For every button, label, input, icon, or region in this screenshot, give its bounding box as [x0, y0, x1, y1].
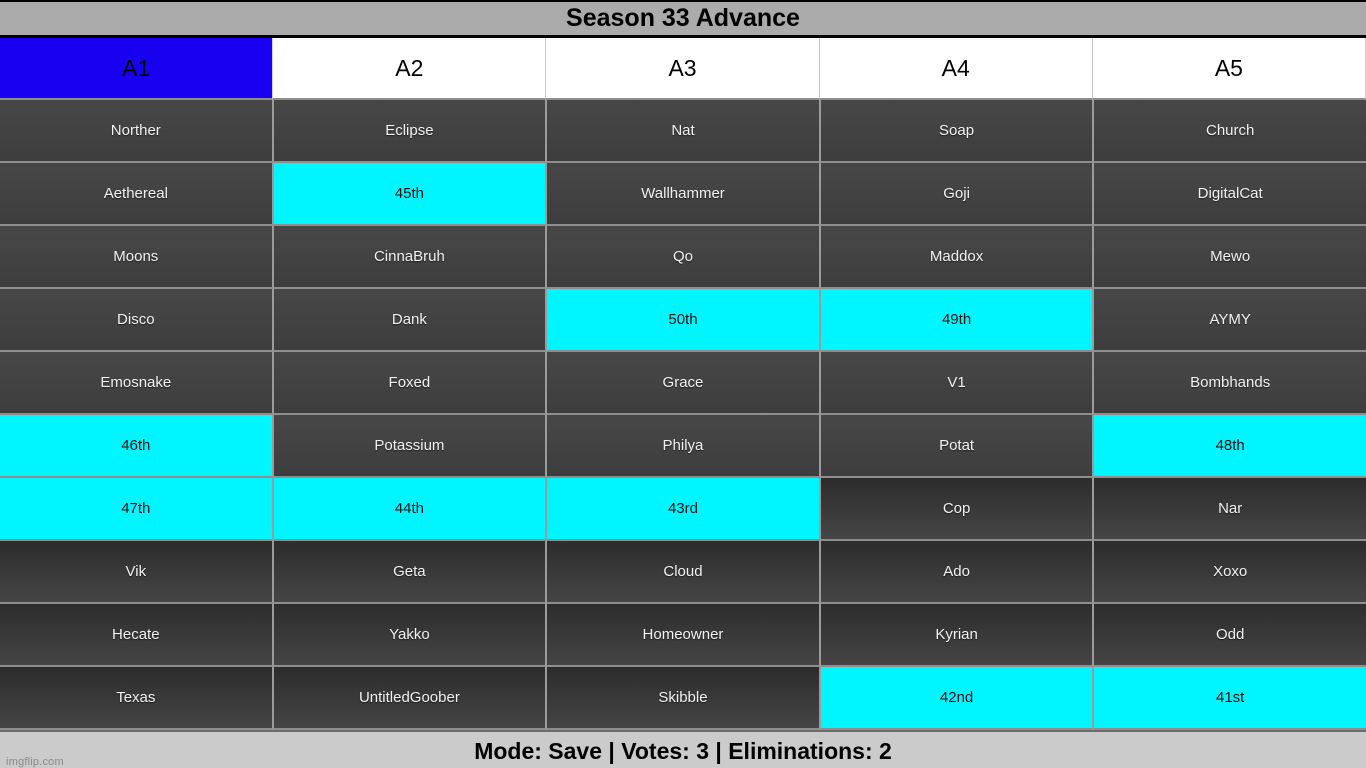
rank-cell[interactable]: 45th	[274, 163, 548, 226]
contestant-cell[interactable]: Norther	[0, 100, 274, 163]
contestant-cell[interactable]: Qo	[547, 226, 821, 289]
contestant-cell[interactable]: Cloud	[547, 541, 821, 604]
page-title: Season 33 Advance	[0, 0, 1366, 38]
column-header-a1[interactable]: A1	[0, 38, 273, 100]
contestant-cell[interactable]: Vik	[0, 541, 274, 604]
column-header-a2[interactable]: A2	[273, 38, 546, 100]
contestant-cell[interactable]: Ado	[821, 541, 1095, 604]
contestant-cell[interactable]: Soap	[821, 100, 1095, 163]
rank-cell[interactable]: 50th	[547, 289, 821, 352]
table-row: DiscoDank50th49thAYMY	[0, 289, 1366, 352]
rank-cell[interactable]: 48th	[1094, 415, 1366, 478]
contestant-cell[interactable]: Hecate	[0, 604, 274, 667]
contestant-cell[interactable]: UntitledGoober	[274, 667, 548, 730]
column-header-a4[interactable]: A4	[820, 38, 1093, 100]
contestant-cell[interactable]: V1	[821, 352, 1095, 415]
contestant-cell[interactable]: Potassium	[274, 415, 548, 478]
grid-body: NortherEclipseNatSoapChurchAethereal45th…	[0, 100, 1366, 730]
column-header-a5[interactable]: A5	[1093, 38, 1366, 100]
contestant-cell[interactable]: Emosnake	[0, 352, 274, 415]
table-row: MoonsCinnaBruhQoMaddoxMewo	[0, 226, 1366, 289]
contestant-cell[interactable]: CinnaBruh	[274, 226, 548, 289]
table-row: NortherEclipseNatSoapChurch	[0, 100, 1366, 163]
status-text: Mode: Save | Votes: 3 | Eliminations: 2	[474, 738, 892, 765]
contestant-cell[interactable]: Potat	[821, 415, 1095, 478]
contestant-cell[interactable]: Skibble	[547, 667, 821, 730]
rank-cell[interactable]: 49th	[821, 289, 1095, 352]
contestant-cell[interactable]: Cop	[821, 478, 1095, 541]
contestant-cell[interactable]: Foxed	[274, 352, 548, 415]
contestant-cell[interactable]: Grace	[547, 352, 821, 415]
contestant-cell[interactable]: Goji	[821, 163, 1095, 226]
app-root: Season 33 Advance A1A2A3A4A5 NortherEcli…	[0, 0, 1366, 768]
advance-grid: A1A2A3A4A5 NortherEclipseNatSoapChurchAe…	[0, 38, 1366, 730]
rank-cell[interactable]: 43rd	[547, 478, 821, 541]
contestant-cell[interactable]: DigitalCat	[1094, 163, 1366, 226]
rank-cell[interactable]: 42nd	[821, 667, 1095, 730]
contestant-cell[interactable]: Odd	[1094, 604, 1366, 667]
page-title-text: Season 33 Advance	[566, 4, 800, 33]
table-row: 47th44th43rdCopNar	[0, 478, 1366, 541]
grid-header-row: A1A2A3A4A5	[0, 38, 1366, 100]
contestant-cell[interactable]: Kyrian	[821, 604, 1095, 667]
contestant-cell[interactable]: Philya	[547, 415, 821, 478]
contestant-cell[interactable]: Wallhammer	[547, 163, 821, 226]
contestant-cell[interactable]: Moons	[0, 226, 274, 289]
status-bar: imgflip.com Mode: Save | Votes: 3 | Elim…	[0, 730, 1366, 768]
contestant-cell[interactable]: Nar	[1094, 478, 1366, 541]
imgflip-watermark: imgflip.com	[6, 756, 64, 768]
contestant-cell[interactable]: Dank	[274, 289, 548, 352]
contestant-cell[interactable]: Yakko	[274, 604, 548, 667]
rank-cell[interactable]: 44th	[274, 478, 548, 541]
contestant-cell[interactable]: Homeowner	[547, 604, 821, 667]
rank-cell[interactable]: 46th	[0, 415, 274, 478]
contestant-cell[interactable]: Geta	[274, 541, 548, 604]
rank-cell[interactable]: 41st	[1094, 667, 1366, 730]
contestant-cell[interactable]: Nat	[547, 100, 821, 163]
contestant-cell[interactable]: Maddox	[821, 226, 1095, 289]
table-row: Aethereal45thWallhammerGojiDigitalCat	[0, 163, 1366, 226]
table-row: TexasUntitledGooberSkibble42nd41st	[0, 667, 1366, 730]
table-row: HecateYakkoHomeownerKyrianOdd	[0, 604, 1366, 667]
contestant-cell[interactable]: Bombhands	[1094, 352, 1366, 415]
contestant-cell[interactable]: Texas	[0, 667, 274, 730]
contestant-cell[interactable]: Church	[1094, 100, 1366, 163]
rank-cell[interactable]: 47th	[0, 478, 274, 541]
contestant-cell[interactable]: Xoxo	[1094, 541, 1366, 604]
contestant-cell[interactable]: Mewo	[1094, 226, 1366, 289]
table-row: 46thPotassiumPhilyaPotat48th	[0, 415, 1366, 478]
table-row: EmosnakeFoxedGraceV1Bombhands	[0, 352, 1366, 415]
contestant-cell[interactable]: Aethereal	[0, 163, 274, 226]
contestant-cell[interactable]: Eclipse	[274, 100, 548, 163]
column-header-a3[interactable]: A3	[546, 38, 819, 100]
contestant-cell[interactable]: AYMY	[1094, 289, 1366, 352]
contestant-cell[interactable]: Disco	[0, 289, 274, 352]
table-row: VikGetaCloudAdoXoxo	[0, 541, 1366, 604]
